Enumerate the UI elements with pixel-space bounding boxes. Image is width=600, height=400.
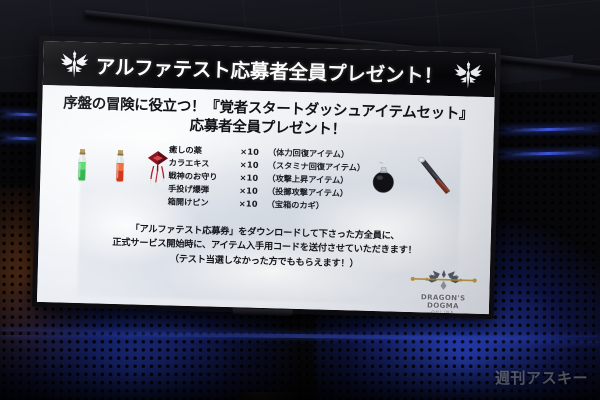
dragon-emblem-icon xyxy=(59,47,90,80)
slide-title: アルファテスト応募者全員プレゼント！ xyxy=(95,50,443,88)
slide-screen: アルファテスト応募者全員プレゼント！ xyxy=(37,41,496,314)
bomb-icon xyxy=(370,161,397,194)
game-logo-title: DRAGON'S DOGMA xyxy=(406,294,480,311)
photo-scene: アルファテスト応募者全員プレゼント！ xyxy=(0,0,600,400)
item-qty: ×10 xyxy=(239,197,267,211)
dragon-emblem-icon xyxy=(453,58,484,91)
potion-red-icon xyxy=(112,150,128,183)
item-qty: ×10 xyxy=(239,171,267,185)
game-logo-crest-icon xyxy=(406,268,481,292)
item-qty: ×10 xyxy=(239,184,267,198)
publisher-watermark: 週刊アスキー xyxy=(495,367,588,388)
item-table: 癒しの薬 ×10 （体力回復アイテム） カラエキス ×10 （スタミナ回復アイテ… xyxy=(168,144,366,214)
presentation-display: アルファテスト応募者全員プレゼント！ xyxy=(37,41,496,314)
charm-icon xyxy=(144,149,171,188)
potion-green-icon xyxy=(74,149,90,182)
game-logo: DRAGON'S DOGMA ONLINE xyxy=(406,268,481,310)
item-list-zone: 癒しの薬 ×10 （体力回復アイテム） カラエキス ×10 （スタミナ回復アイテ… xyxy=(39,140,493,228)
pin-icon xyxy=(412,156,457,197)
item-qty: ×10 xyxy=(240,158,268,172)
slide-body: 序盤の冒険に役立つ！『覚者スタートダッシュアイテムセット』 応募者全員プレゼント… xyxy=(37,85,495,314)
item-name: 箱開けピン xyxy=(168,196,239,211)
item-qty: ×10 xyxy=(240,145,268,159)
item-desc: （宝箱のカギ） xyxy=(266,198,364,214)
